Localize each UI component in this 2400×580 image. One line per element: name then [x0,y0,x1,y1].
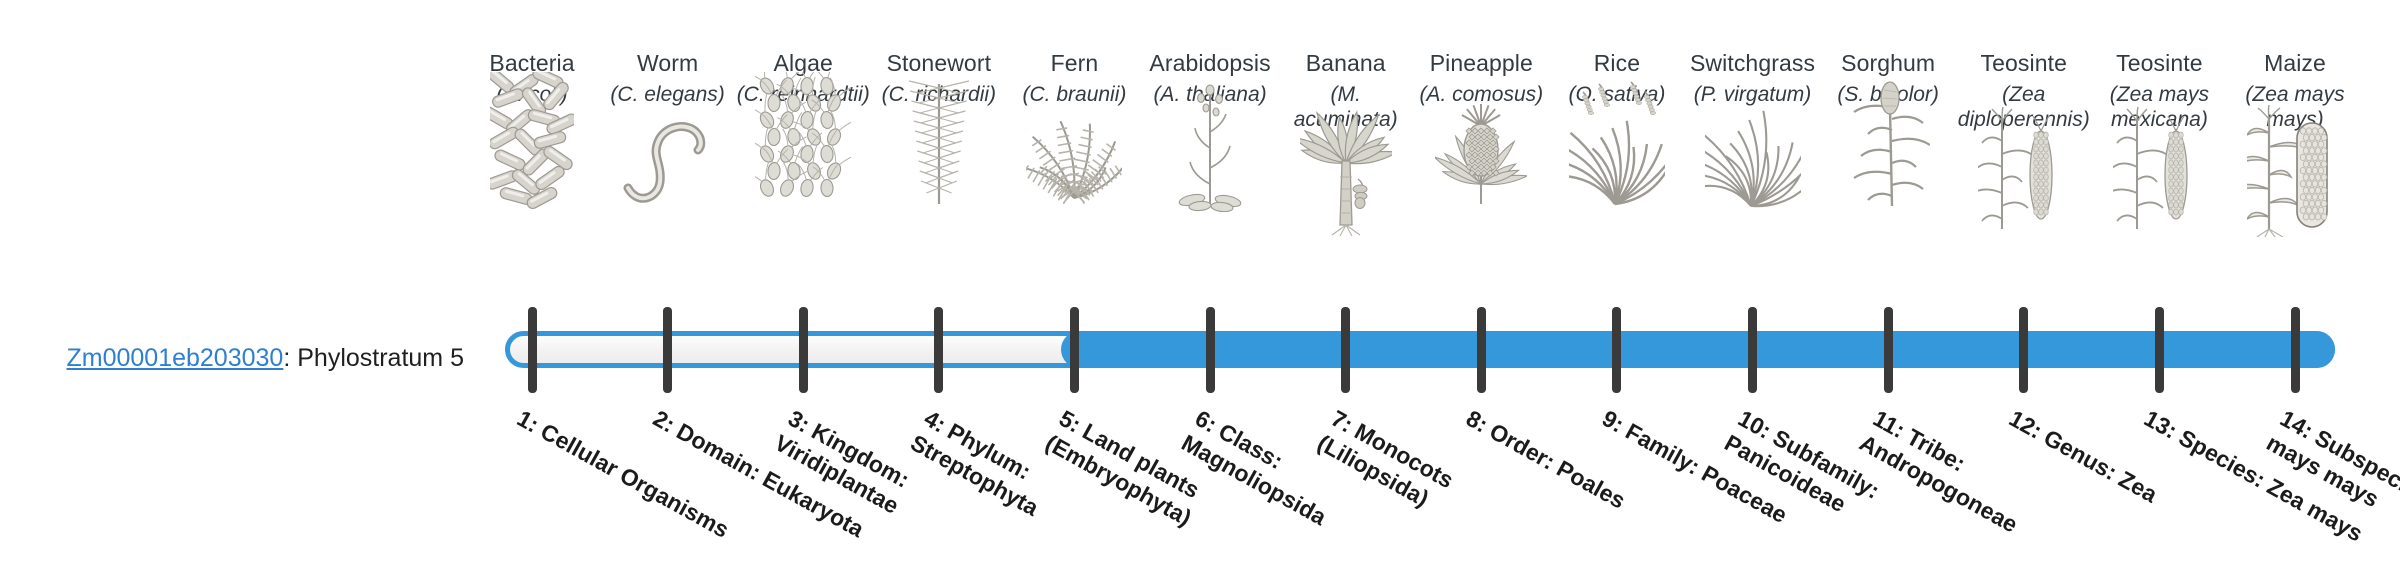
banana-illustration [1278,137,1414,237]
tick-mark-1 [528,307,537,393]
tick-mark-13 [2155,307,2164,393]
stratum-label-1: 1: Cellular Organisms [512,404,744,550]
phylostratum-track [505,331,2335,368]
species-column-stonewort: Stonewort(C. richardii) [871,50,1007,212]
gene-id-link[interactable]: Zm00001eb203030 [66,344,283,372]
tick-mark-8 [1477,307,1486,393]
species-common-name: Teosinte [1956,50,2092,77]
species-column-switchgrass: Switchgrass(P. virgatum) [1685,50,1821,212]
species-common-name: Banana [1278,50,1414,77]
species-column-algae: Algae(C. reinhardtii) [735,50,871,212]
rice-illustration [1549,112,1685,212]
species-column-sorghum: Sorghum(S. bicolor) [1820,50,1956,212]
tick-mark-9 [1612,307,1621,393]
tick-mark-10 [1748,307,1757,393]
teosinte-diploperennis-illustration [1956,137,2092,237]
species-column-bacteria: Bacteria(E. coli) [464,50,600,212]
species-column-rice: Rice(O. sativa) [1549,50,1685,212]
species-column-fern: Fern(C. braunii) [1006,50,1142,212]
species-latin-name: (C. elegans) [600,83,736,108]
tick-mark-5 [1070,307,1079,393]
tick-mark-3 [799,307,808,393]
species-column-pineapple: Pineapple(A. comosus) [1413,50,1549,212]
tick-mark-4 [934,307,943,393]
maize-illustration [2227,137,2363,237]
tick-mark-14 [2291,307,2300,393]
phylostratum-chart: Zm00001eb203030: Phylostratum 5 Bacteria… [0,0,2400,580]
bacteria-illustration [464,112,600,212]
gene-phylostratum-value: Phylostratum 5 [297,344,464,372]
arabidopsis-illustration [1142,112,1278,212]
species-common-name: Worm [600,50,736,77]
species-common-name: Teosinte [2091,50,2227,77]
species-column-banana: Banana(M. acuminata) [1278,50,1414,237]
gene-label-separator: : [283,344,297,372]
tick-mark-2 [663,307,672,393]
species-common-name: Maize [2227,50,2363,77]
pineapple-illustration [1413,112,1549,212]
gene-phylostratum-label: Zm00001eb203030: Phylostratum 5 [44,345,464,373]
species-column-teosinte: Teosinte(Zea mays mexicana) [2091,50,2227,237]
fern-illustration [1006,112,1142,212]
tick-mark-7 [1341,307,1350,393]
tick-mark-12 [2019,307,2028,393]
species-column-worm: Worm(C. elegans) [600,50,736,212]
species-column-maize: Maize(Zea mays mays) [2227,50,2363,237]
tick-mark-6 [1206,307,1215,393]
switchgrass-illustration [1685,112,1821,212]
algae-illustration [735,112,871,212]
stonewort-illustration [871,112,1007,212]
teosinte-mexicana-illustration [2091,137,2227,237]
species-column-arabidopsis: Arabidopsis(A. thaliana) [1142,50,1278,212]
worm-illustration [600,112,736,212]
tick-mark-11 [1884,307,1893,393]
species-column-teosinte: Teosinte(Zea diploperennis) [1956,50,2092,237]
sorghum-illustration [1820,112,1956,212]
phylostratum-fill [1061,331,2335,368]
